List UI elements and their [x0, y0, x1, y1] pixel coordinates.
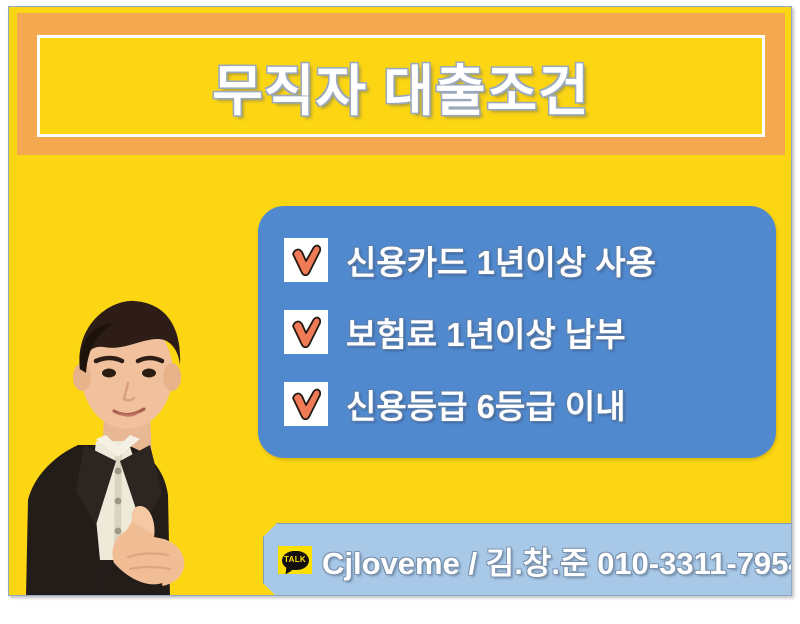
title-band: 무직자 대출조건 — [17, 13, 785, 155]
contact-info-text: Cjloveme / 김.창.준 010-3311-7954 — [322, 538, 792, 583]
page-title: 무직자 대출조건 — [212, 46, 589, 126]
check-mark-icon — [284, 310, 328, 354]
poster-frame: 무직자 대출조건 — [8, 6, 792, 596]
kakaotalk-bubble: TALK — [282, 551, 309, 570]
checklist-item[interactable]: 신용카드 1년이상 사용 — [284, 229, 758, 291]
checklist-item-label: 신용카드 1년이상 사용 — [346, 236, 656, 284]
checklist-item[interactable]: 신용등급 6등급 이내 — [284, 373, 758, 435]
person-illustration — [18, 295, 238, 596]
checklist-item[interactable]: 보험료 1년이상 납부 — [284, 301, 758, 363]
checklist-item-label: 보험료 1년이상 납부 — [346, 308, 626, 356]
title-inner-box: 무직자 대출조건 — [37, 35, 765, 137]
kakaotalk-icon[interactable]: TALK — [278, 546, 312, 574]
poster-root: 무직자 대출조건 — [0, 0, 800, 624]
kakaotalk-label: TALK — [284, 556, 306, 564]
check-mark-icon — [284, 382, 328, 426]
contact-bar[interactable]: TALK Cjloveme / 김.창.준 010-3311-7954 — [263, 523, 792, 596]
checklist-card: 신용카드 1년이상 사용 보험료 1년이상 납부 신용등급 6등급 이내 — [258, 206, 776, 458]
checklist-item-label: 신용등급 6등급 이내 — [346, 380, 626, 428]
check-mark-icon — [284, 238, 328, 282]
person-photo — [18, 295, 238, 596]
